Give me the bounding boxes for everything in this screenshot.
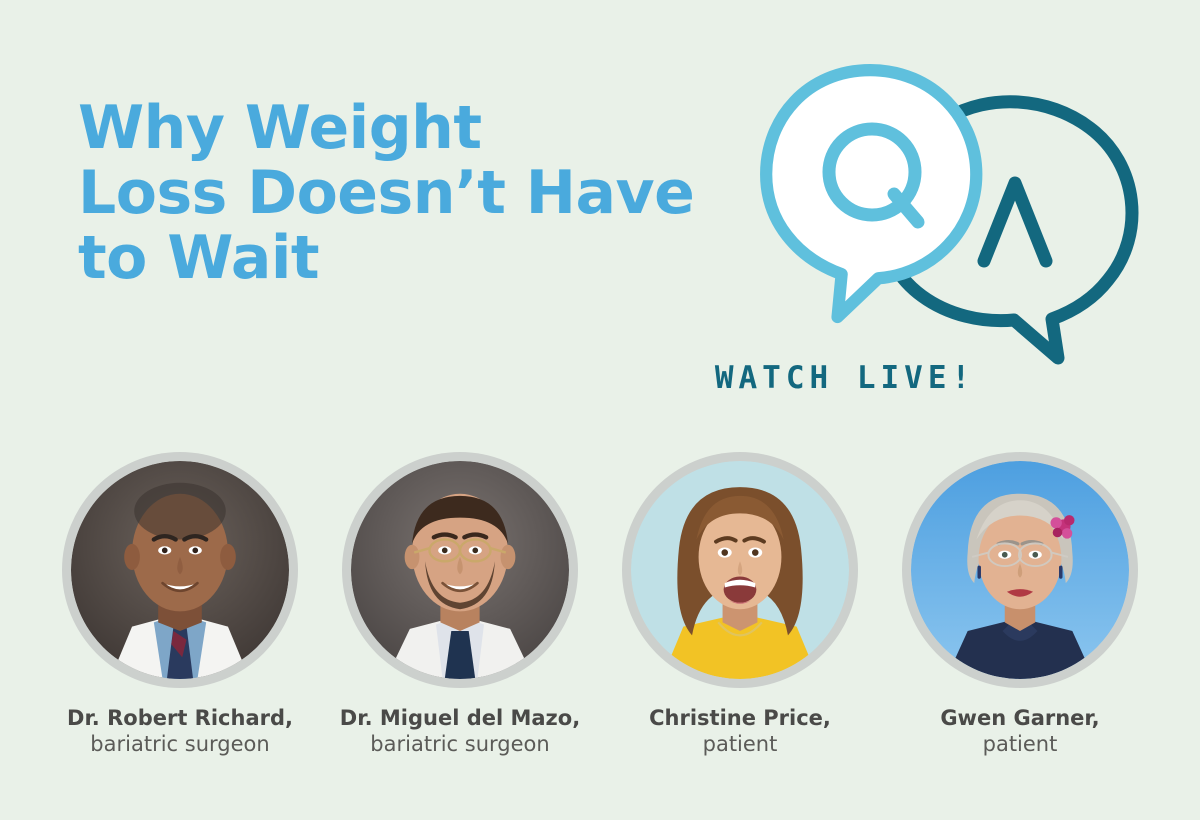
- avatar: [62, 452, 298, 688]
- page-title: Why Weight Loss Doesn’t Have to Wait: [78, 96, 738, 290]
- avatar: [622, 452, 858, 688]
- avatar: [902, 452, 1138, 688]
- watch-live-label: WATCH LIVE!: [700, 360, 990, 396]
- presenter-name: Gwen Garner,: [940, 706, 1099, 732]
- presenter-role: bariatric surgeon: [67, 732, 293, 758]
- question-bubble-icon: [766, 70, 976, 317]
- presenter-list: Dr. Robert Richard, bariatric surgeon: [0, 452, 1200, 757]
- presenter-name: Christine Price,: [649, 706, 831, 732]
- presenter-caption: Dr. Miguel del Mazo, bariatric surgeon: [340, 706, 580, 757]
- list-item: Dr. Miguel del Mazo, bariatric surgeon: [340, 452, 580, 757]
- page-title-line-3: to Wait: [78, 226, 738, 291]
- portrait-photo-robert-richard: [71, 461, 289, 679]
- qa-speech-bubbles-logo: [752, 52, 1152, 372]
- presenter-name: Dr. Miguel del Mazo,: [340, 706, 580, 732]
- page-title-line-2: Loss Doesn’t Have: [78, 161, 738, 226]
- list-item: Christine Price, patient: [620, 452, 860, 757]
- presenter-role: patient: [940, 732, 1099, 758]
- poster-canvas: Why Weight Loss Doesn’t Have to Wait WAT…: [0, 0, 1200, 820]
- page-title-line-1: Why Weight: [78, 96, 738, 161]
- portrait-photo-christine-price: [631, 461, 849, 679]
- presenter-name: Dr. Robert Richard,: [67, 706, 293, 732]
- presenter-role: bariatric surgeon: [340, 732, 580, 758]
- portrait-photo-miguel-del-mazo: [351, 461, 569, 679]
- list-item: Gwen Garner, patient: [900, 452, 1140, 757]
- presenter-caption: Christine Price, patient: [649, 706, 831, 757]
- portrait-photo-gwen-garner: [911, 461, 1129, 679]
- presenter-caption: Gwen Garner, patient: [940, 706, 1099, 757]
- presenter-caption: Dr. Robert Richard, bariatric surgeon: [67, 706, 293, 757]
- presenter-role: patient: [649, 732, 831, 758]
- list-item: Dr. Robert Richard, bariatric surgeon: [60, 452, 300, 757]
- avatar: [342, 452, 578, 688]
